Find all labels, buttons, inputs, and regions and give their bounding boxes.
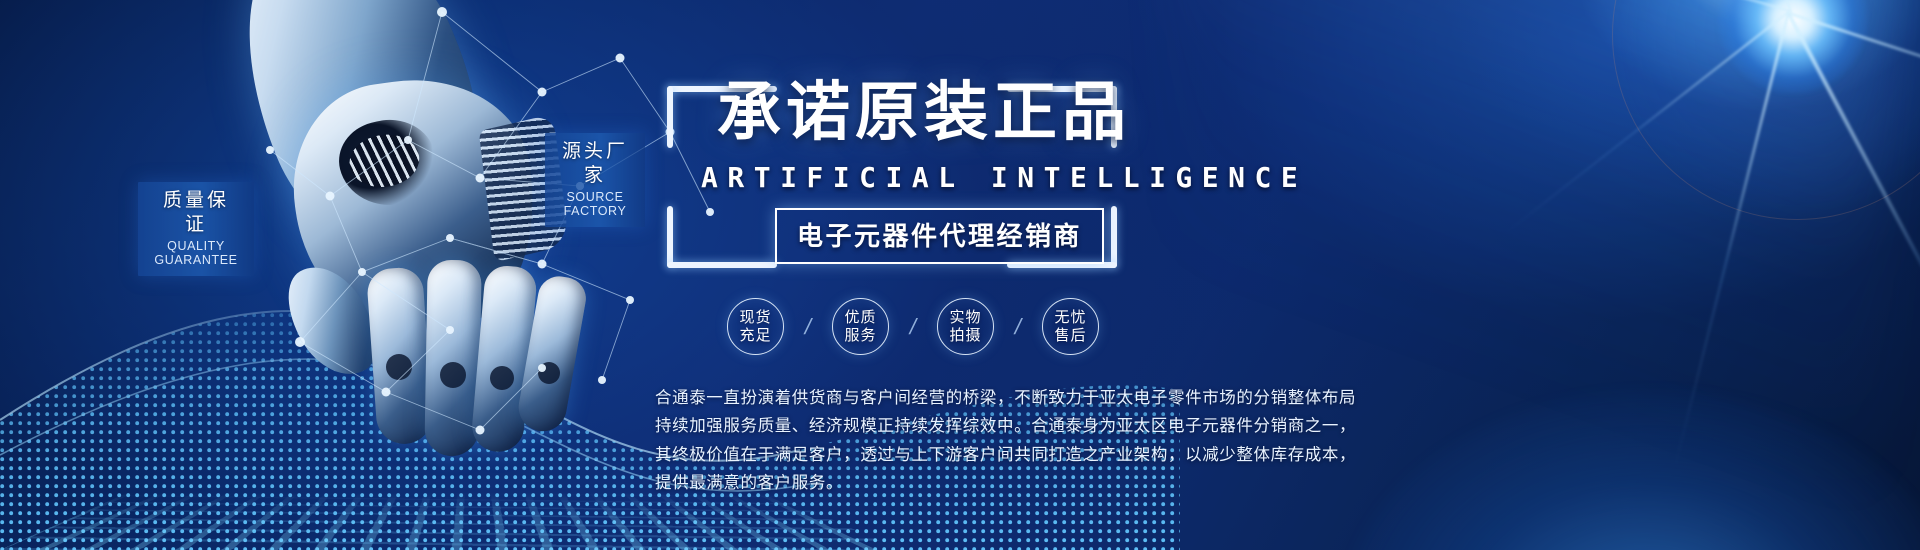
subtitle-box-label: 电子元器件代理经销商 [797,221,1082,251]
description-paragraph: 合通泰一直扮演着供货商与客户间经营的桥梁，不断致力于亚太电子零件市场的分销整体布… [655,384,1665,498]
page-subtitle-en: ARTIFICIAL INTELLIGENCE [701,161,1307,194]
feature-badge-line1: 无忧 [1054,309,1086,327]
feature-badge-line2: 服务 [844,327,876,345]
headline-block: 承诺原装正品 ARTIFICIAL INTELLIGENCE 电子元器件代理经销… [655,66,1835,486]
robot-knuckle [386,354,412,380]
robotic-hand-illustration [200,0,670,490]
description-line: 提供最满意的客户服务。 [655,469,1665,497]
subtitle-box: 电子元器件代理经销商 [775,208,1104,264]
description-line: 其终极价值在于满足客户，透过与上下游客户间共同打造之产业架构，以减少整体库存成本… [655,441,1665,469]
feature-badge-list: 现货 充足 / 优质 服务 / 实物 拍摄 / 无忧 售后 [727,298,1099,355]
badge-quality-guarantee: 质量保证 QUALITY GUARANTEE [138,182,254,276]
badge-source-factory: 源头厂家 SOURCE FACTORY [545,133,645,227]
badge-source-factory-cn: 源头厂家 [561,140,629,188]
feature-badge: 优质 服务 [832,298,889,355]
hero-banner: 质量保证 QUALITY GUARANTEE 源头厂家 SOURCE FACTO… [0,0,1920,550]
robot-knuckle [440,362,466,388]
feature-badge-line1: 优质 [844,309,876,327]
feature-badge-line1: 实物 [949,309,981,327]
robot-knuckle [538,362,560,384]
feature-badge-line2: 拍摄 [949,327,981,345]
feature-badge-line2: 充足 [739,327,771,345]
feature-badge-line1: 现货 [739,309,771,327]
feature-badge: 实物 拍摄 [937,298,994,355]
feature-badge-line2: 售后 [1054,327,1086,345]
robot-knuckle [490,366,514,390]
badge-separator: / [781,314,835,340]
page-title: 承诺原装正品 [717,80,1131,144]
description-line: 合通泰一直扮演着供货商与客户间经营的桥梁，不断致力于亚太电子零件市场的分销整体布… [655,384,1665,412]
badge-separator: / [886,314,940,340]
feature-badge: 现货 充足 [727,298,784,355]
perspective-grid-floor [0,493,900,550]
badge-source-factory-en: SOURCE FACTORY [561,190,629,218]
badge-quality-guarantee-en: QUALITY GUARANTEE [154,239,238,267]
badge-quality-guarantee-cn: 质量保证 [154,189,238,237]
description-line: 持续加强服务质量、经济规模正持续发挥综效中。合通泰身为亚太区电子元器件分销商之一… [655,412,1665,440]
feature-badge: 无忧 售后 [1042,298,1099,355]
badge-separator: / [991,314,1045,340]
